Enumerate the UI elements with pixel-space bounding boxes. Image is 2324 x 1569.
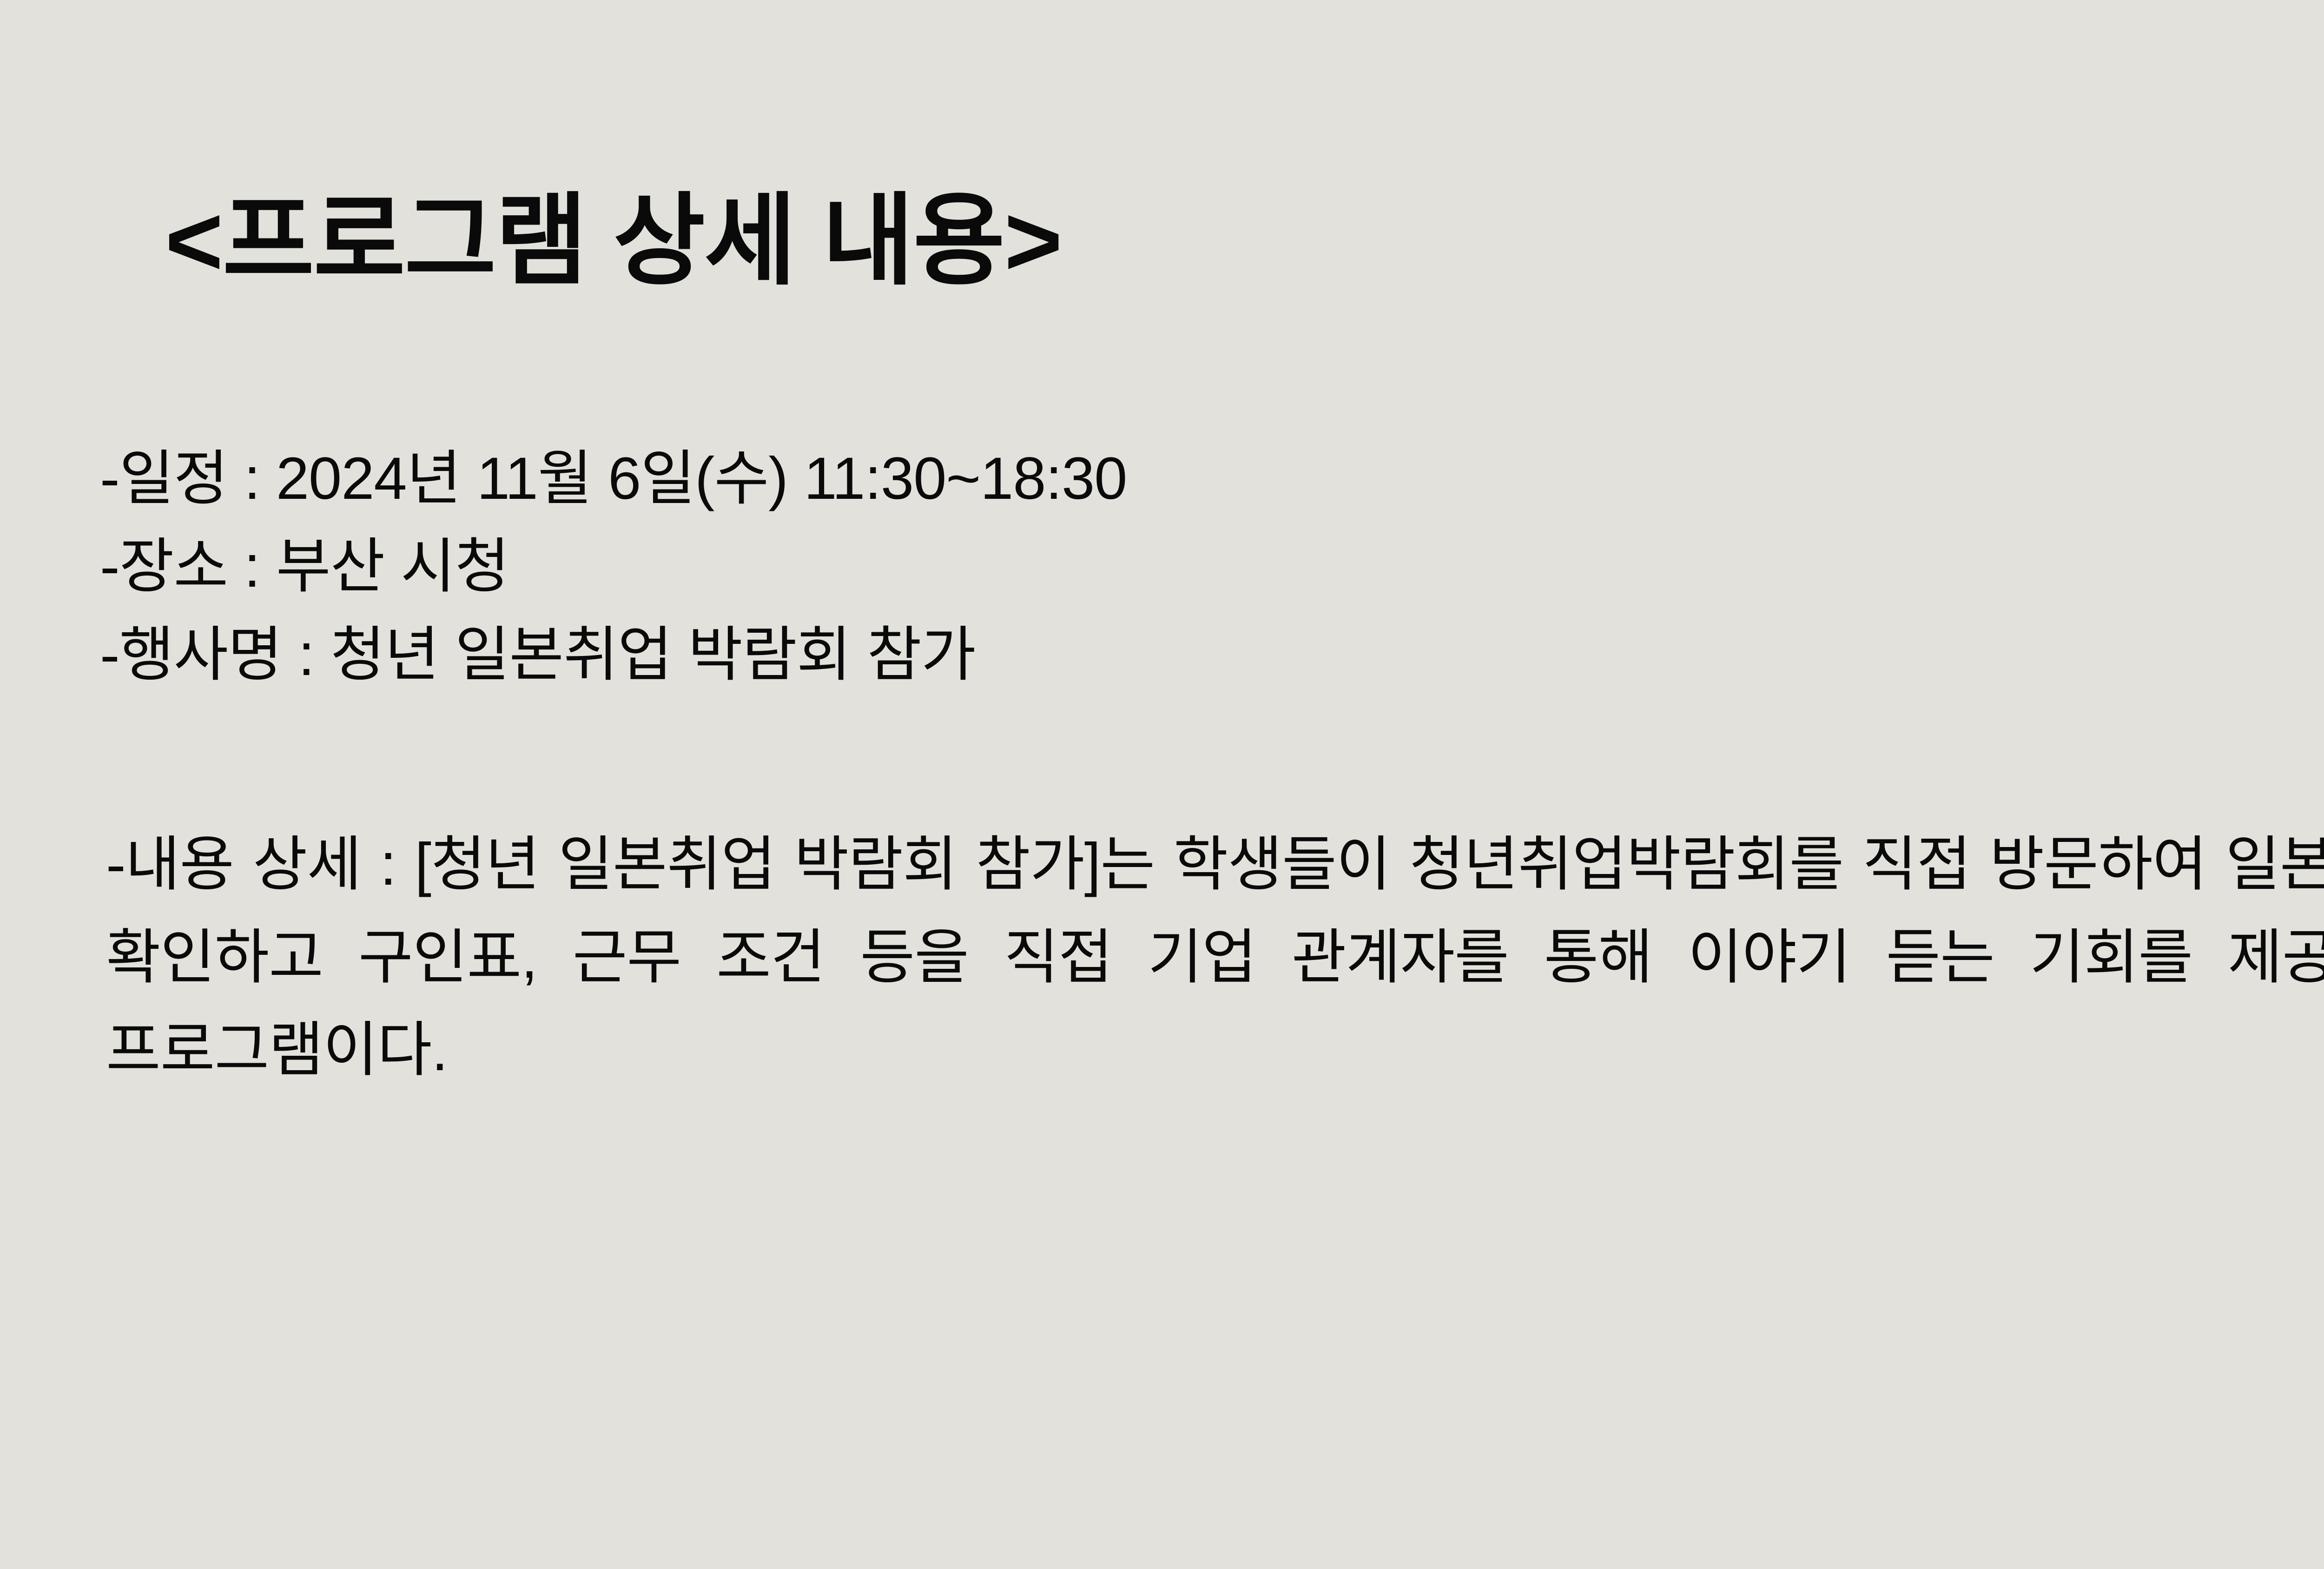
info-line-event-name: -행사명 : 청년 일본취업 박람회 참가	[100, 611, 2324, 699]
program-detail-slide: <프로그램 상세 내용> -일정 : 2024년 11월 6일(수) 11:30…	[0, 0, 2324, 1569]
program-detail-block: -내용 상세 : [청년 일본취업 박람회 참가]는 학생들이 청년취업박람회를…	[106, 818, 2324, 1190]
program-info-block: -일정 : 2024년 11월 6일(수) 11:30~18:30 -장소 : …	[100, 435, 2324, 699]
info-line-place: -장소 : 부산 시청	[100, 523, 2324, 610]
detail-description-paragraph: -내용 상세 : [청년 일본취업 박람회 참가]는 학생들이 청년취업박람회를…	[106, 818, 2324, 1190]
page-title: <프로그램 상세 내용>	[165, 179, 1062, 304]
info-line-schedule: -일정 : 2024년 11월 6일(수) 11:30~18:30	[100, 435, 2324, 523]
